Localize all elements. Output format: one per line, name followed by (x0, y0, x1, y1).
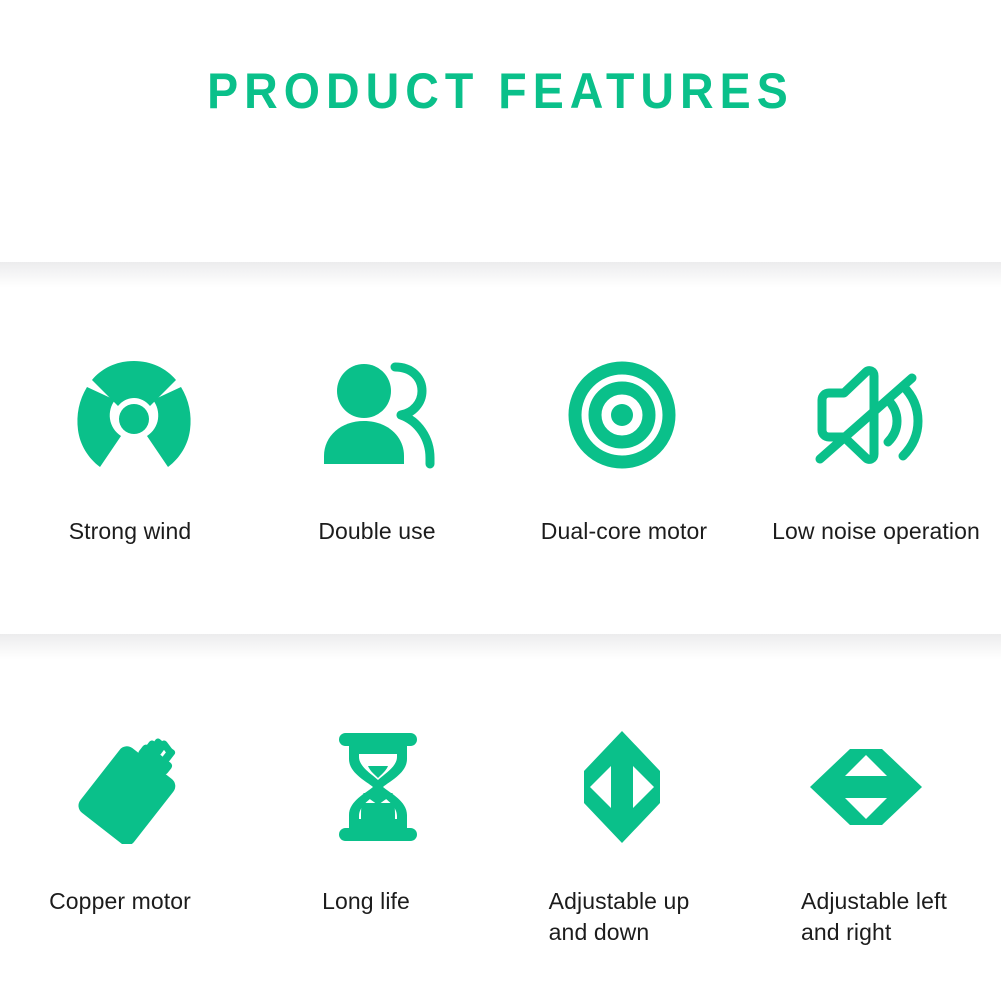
section-divider-bottom (0, 634, 1001, 660)
page-title: PRODUCT FEATURES (207, 62, 794, 120)
feature-label: Double use (318, 516, 435, 547)
feature-item-strong-wind[interactable]: Strong wind (12, 288, 256, 547)
feature-row-1: Strong wind Double use (0, 288, 1001, 634)
feature-label: Strong wind (69, 516, 192, 547)
feature-item-low-noise[interactable]: Low noise operation (744, 288, 988, 547)
feature-item-adjustable-left-right[interactable]: Adjustable left and right (744, 660, 988, 948)
feature-label: Adjustable up and down (549, 886, 690, 948)
feature-item-copper-motor[interactable]: Copper motor (12, 660, 256, 917)
feature-label: Dual-core motor (541, 516, 707, 547)
product-features-page: PRODUCT FEATURES Strong wind (0, 0, 1001, 1001)
left-right-arrow-icon (801, 728, 931, 846)
feature-item-long-life[interactable]: Long life (256, 660, 500, 917)
page-header: PRODUCT FEATURES (0, 0, 1001, 262)
feature-label: Long life (322, 886, 410, 917)
feature-item-double-use[interactable]: Double use (256, 288, 500, 547)
concentric-circles-icon (557, 356, 687, 474)
radiation-fan-icon (69, 356, 199, 474)
feature-label: Copper motor (49, 886, 191, 917)
feature-row-2: Copper motor Long life (0, 660, 1001, 1001)
feature-label: Adjustable left and right (801, 886, 947, 948)
muted-speaker-icon (801, 356, 931, 474)
hourglass-icon (313, 728, 443, 846)
two-people-icon (313, 356, 443, 474)
up-down-arrow-icon (557, 728, 687, 846)
feature-label: Low noise operation (772, 516, 980, 547)
feature-item-dual-core-motor[interactable]: Dual-core motor (500, 288, 744, 547)
section-divider-top (0, 262, 1001, 288)
feature-item-adjustable-up-down[interactable]: Adjustable up and down (500, 660, 744, 948)
copper-motor-icon (69, 728, 199, 846)
